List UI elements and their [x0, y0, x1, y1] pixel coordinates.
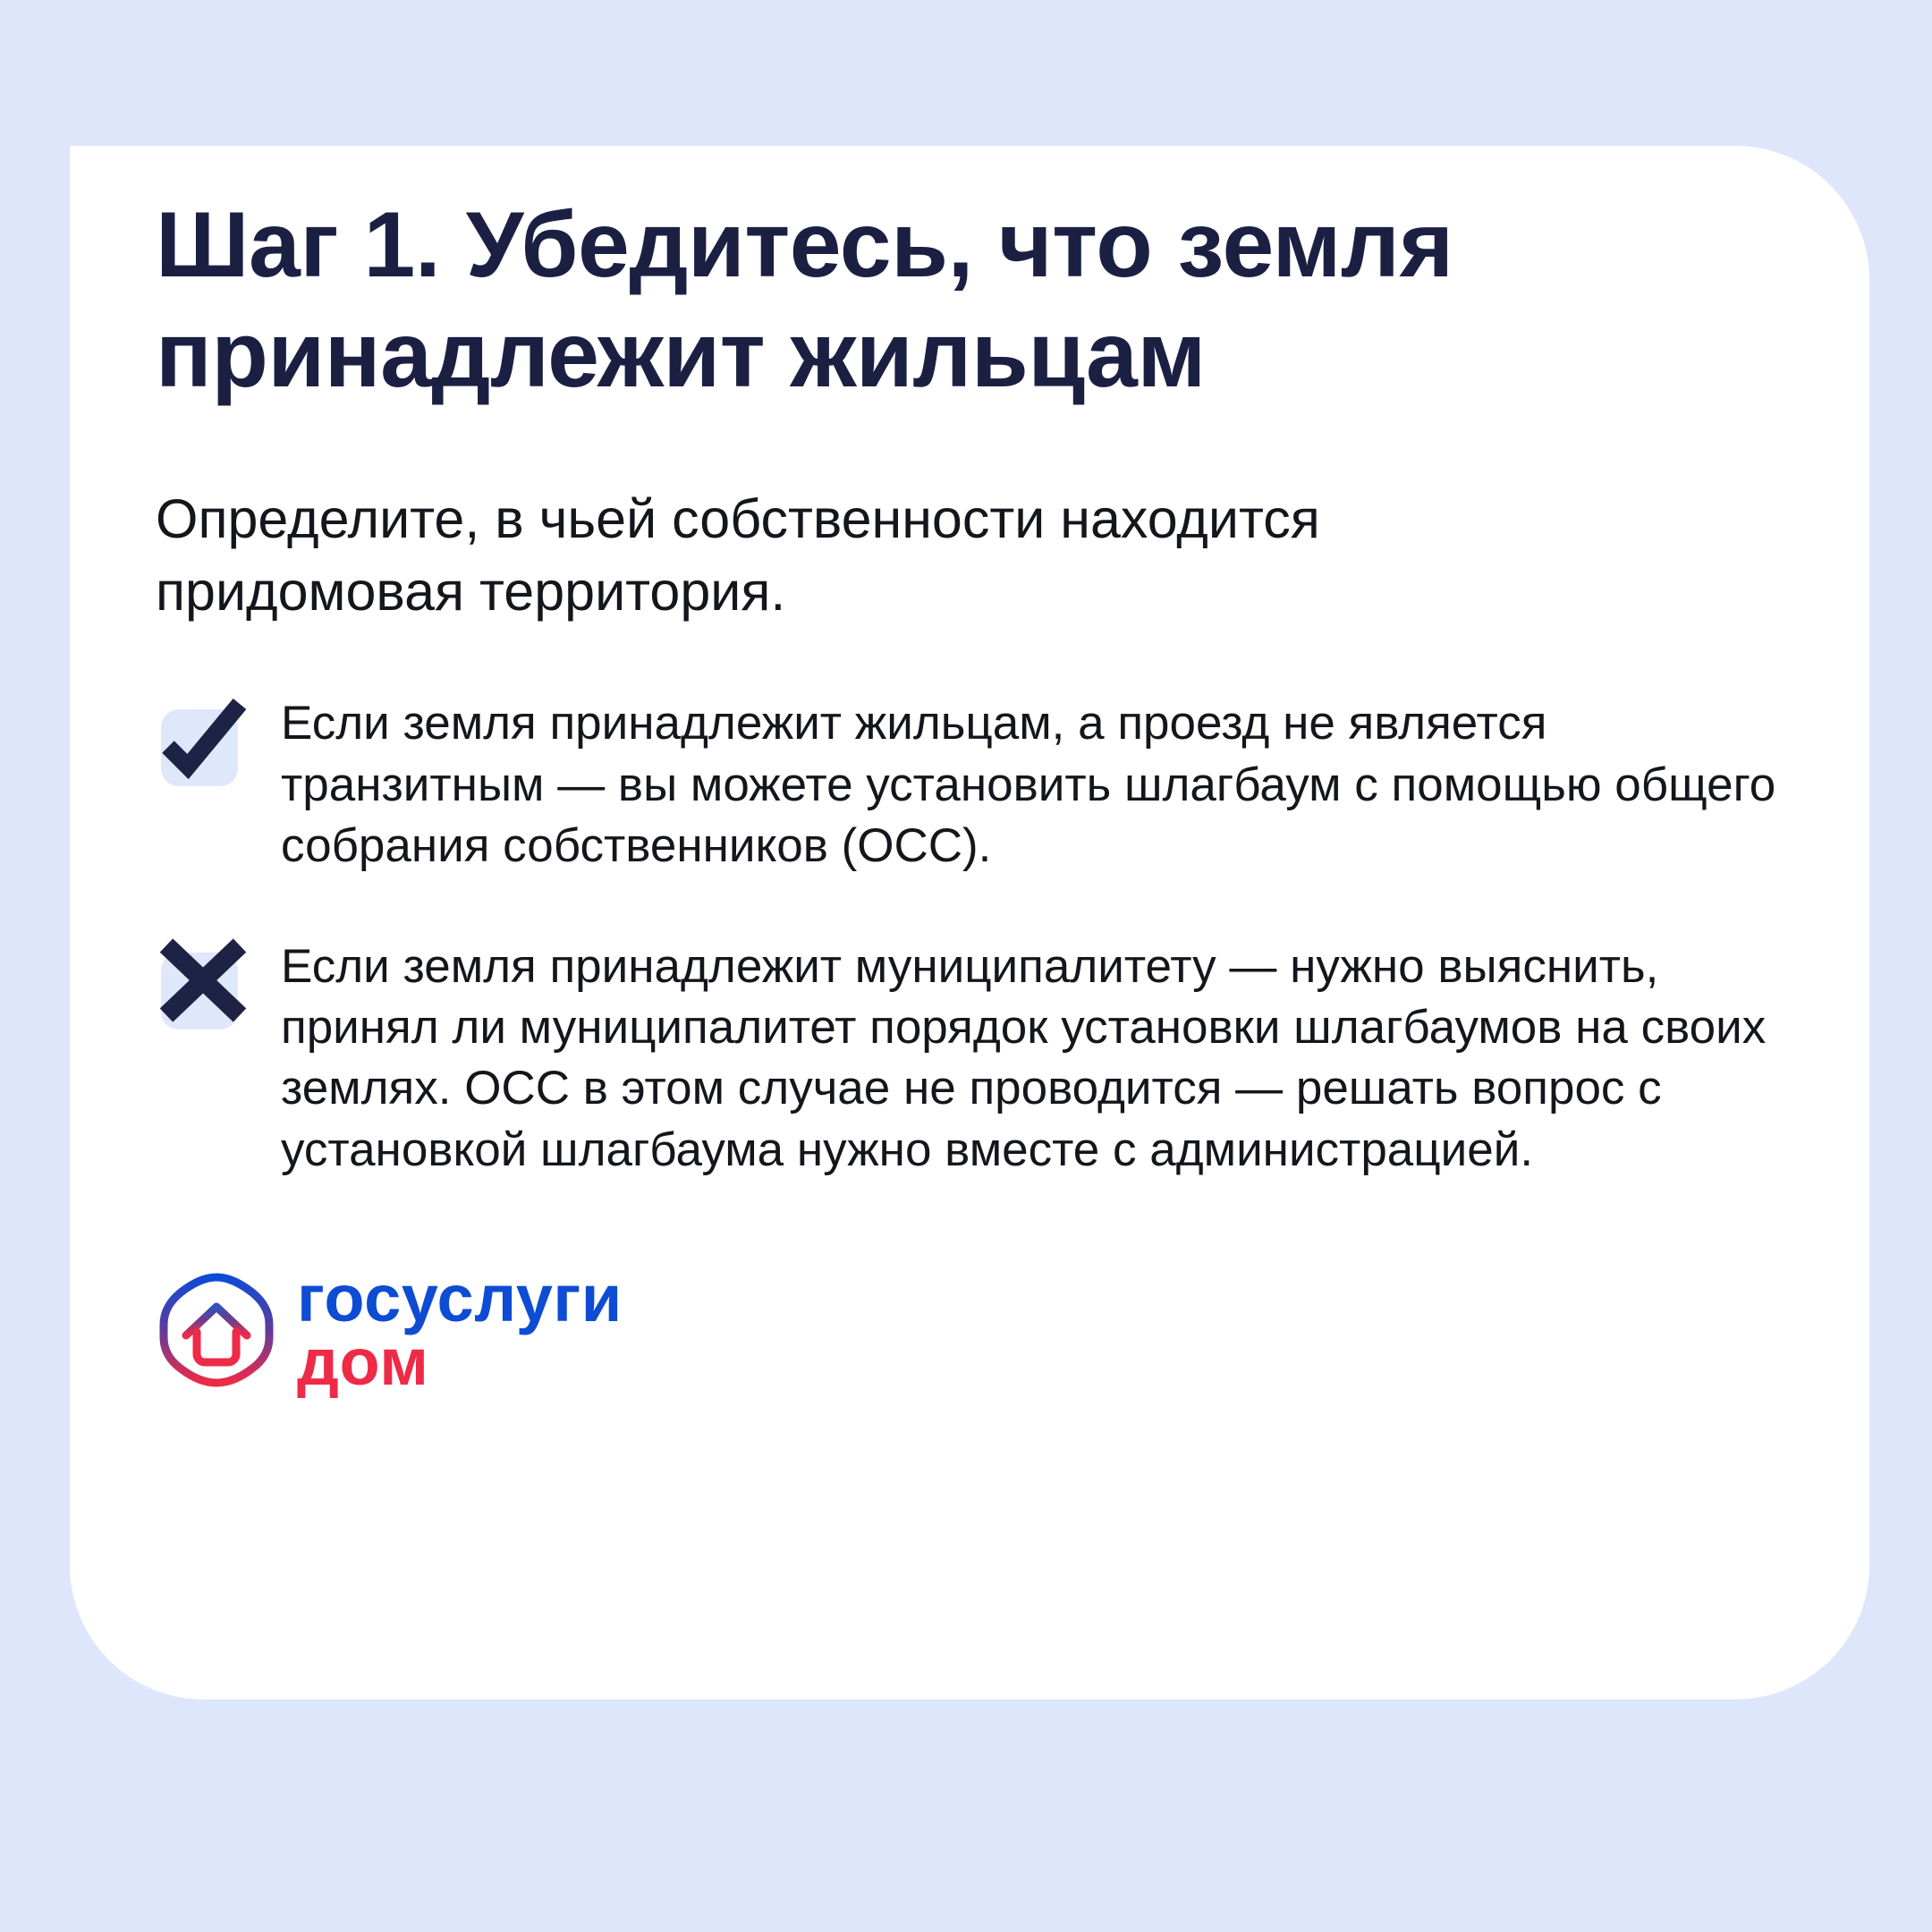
bullet-list: Если земля принадлежит жильцам, а проезд…	[156, 691, 1789, 1181]
content-card: Шаг 1. Убедитесь, что земля принадлежит …	[70, 146, 1869, 1699]
logo-line-dom: дом	[297, 1330, 623, 1394]
lead-paragraph: Определите, в чьей собственности находит…	[156, 483, 1551, 627]
logo-wordmark: госуслуги дом	[297, 1267, 623, 1394]
brand-logo: госуслуги дом	[156, 1267, 1789, 1394]
check-icon	[156, 695, 249, 788]
list-item-text: Если земля принадлежит муниципалитету — …	[281, 935, 1789, 1181]
logo-line-gosuslugi: госуслуги	[297, 1267, 623, 1330]
list-item: Если земля принадлежит муниципалитету — …	[156, 935, 1789, 1181]
card-content: Шаг 1. Убедитесь, что земля принадлежит …	[156, 191, 1789, 1394]
cross-icon	[156, 938, 249, 1031]
list-item-text: Если земля принадлежит жильцам, а проезд…	[281, 691, 1789, 877]
house-hexagon-icon	[156, 1269, 277, 1391]
list-item: Если земля принадлежит жильцам, а проезд…	[156, 691, 1789, 877]
page-title: Шаг 1. Убедитесь, что земля принадлежит …	[156, 191, 1694, 410]
